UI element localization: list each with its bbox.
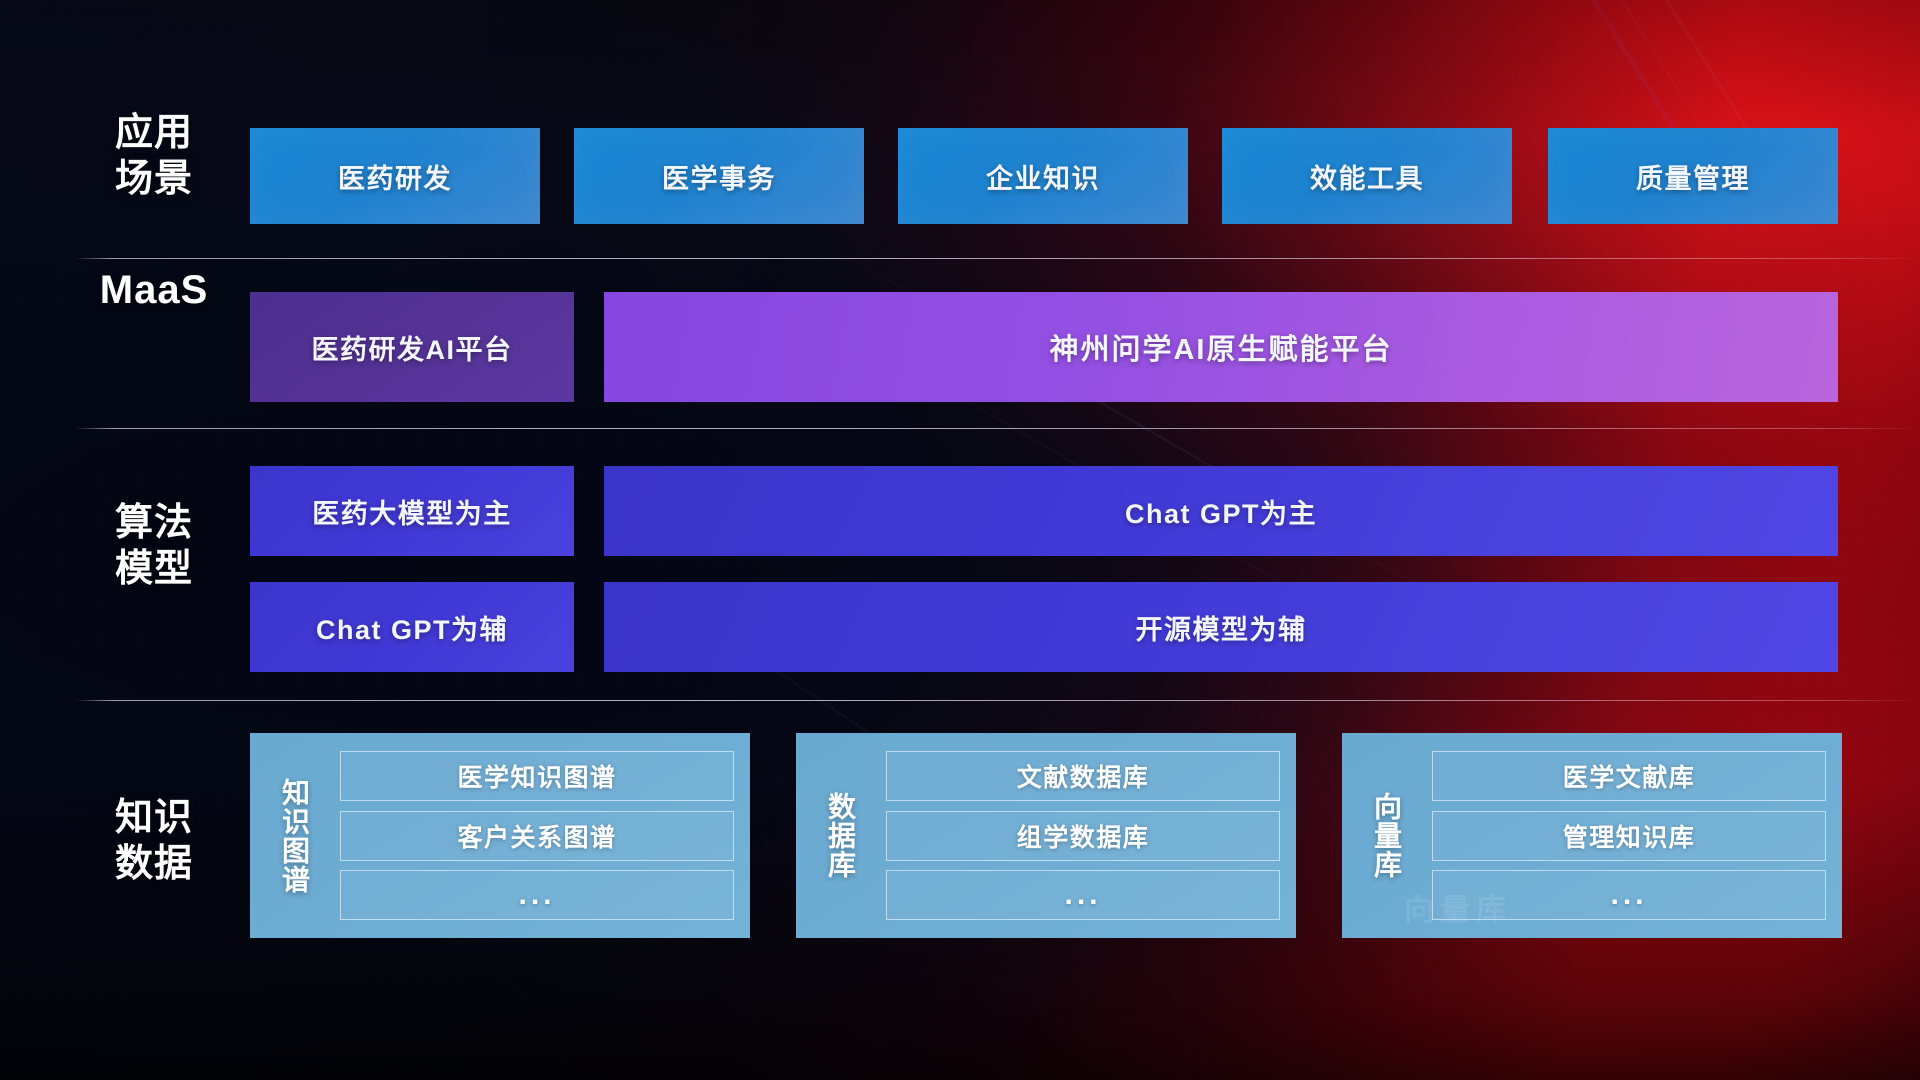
slide-canvas: 应用 场景 医药研发 医学事务 企业知识 效能工具 质量管理 MaaS 医药研发…: [0, 0, 1920, 1080]
algo-right-0[interactable]: Chat GPT为主: [604, 466, 1838, 556]
knowledge-item-more[interactable]: ...: [340, 870, 734, 920]
algo-label: 医药大模型为主: [312, 492, 512, 531]
app-tile-label: 医学事务: [662, 157, 776, 196]
knowledge-card-1[interactable]: 数据库 文献数据库 组学数据库 ...: [796, 733, 1296, 938]
app-tile-label: 质量管理: [1636, 157, 1750, 196]
knowledge-card-items: 医学文献库 管理知识库 ...: [1418, 745, 1828, 926]
knowledge-item[interactable]: 文献数据库: [886, 751, 1280, 801]
maas-right-label: 神州问学AI原生赋能平台: [1049, 326, 1392, 368]
knowledge-item[interactable]: 客户关系图谱: [340, 811, 734, 861]
app-tile-0[interactable]: 医药研发: [250, 128, 540, 224]
knowledge-item[interactable]: 医学知识图谱: [340, 751, 734, 801]
knowledge-card-title: 知识图谱: [262, 745, 326, 926]
app-tile-label: 效能工具: [1310, 157, 1424, 196]
maas-platform-left[interactable]: 医药研发AI平台: [250, 292, 574, 402]
knowledge-card-items: 医学知识图谱 客户关系图谱 ...: [326, 745, 736, 926]
row-label-knowledge: 知识 数据: [88, 795, 220, 887]
row-label-maas: MaaS: [88, 267, 220, 313]
knowledge-item[interactable]: 组学数据库: [886, 811, 1280, 861]
app-tile-3[interactable]: 效能工具: [1222, 128, 1512, 224]
knowledge-card-items: 文献数据库 组学数据库 ...: [872, 745, 1282, 926]
knowledge-card-0[interactable]: 知识图谱 医学知识图谱 客户关系图谱 ...: [250, 733, 750, 938]
row-divider-1: [75, 258, 1920, 259]
algo-left-0[interactable]: 医药大模型为主: [250, 466, 574, 556]
algo-right-1[interactable]: 开源模型为辅: [604, 582, 1838, 672]
app-tile-label: 企业知识: [986, 157, 1100, 196]
app-tile-1[interactable]: 医学事务: [574, 128, 864, 224]
knowledge-card-title: 数据库: [808, 745, 872, 926]
row-label-application: 应用 场景: [88, 110, 220, 202]
algo-label: 开源模型为辅: [1136, 608, 1307, 647]
row-divider-2: [75, 428, 1920, 429]
knowledge-card-2[interactable]: 向量库 医学文献库 管理知识库 ...: [1342, 733, 1842, 938]
algo-label: Chat GPT为主: [1125, 492, 1317, 531]
app-tile-2[interactable]: 企业知识: [898, 128, 1188, 224]
knowledge-item[interactable]: 医学文献库: [1432, 751, 1826, 801]
algo-left-1[interactable]: Chat GPT为辅: [250, 582, 574, 672]
maas-platform-right[interactable]: 神州问学AI原生赋能平台: [604, 292, 1838, 402]
knowledge-item-more[interactable]: ...: [886, 870, 1280, 920]
algo-label: Chat GPT为辅: [316, 608, 508, 647]
knowledge-item[interactable]: 管理知识库: [1432, 811, 1826, 861]
knowledge-item-more[interactable]: ...: [1432, 870, 1826, 920]
knowledge-card-title: 向量库: [1354, 745, 1418, 926]
maas-left-label: 医药研发AI平台: [312, 328, 513, 367]
row-label-algorithm: 算法 模型: [88, 500, 220, 592]
row-divider-3: [75, 700, 1920, 701]
app-tile-label: 医药研发: [338, 157, 452, 196]
app-tile-4[interactable]: 质量管理: [1548, 128, 1838, 224]
